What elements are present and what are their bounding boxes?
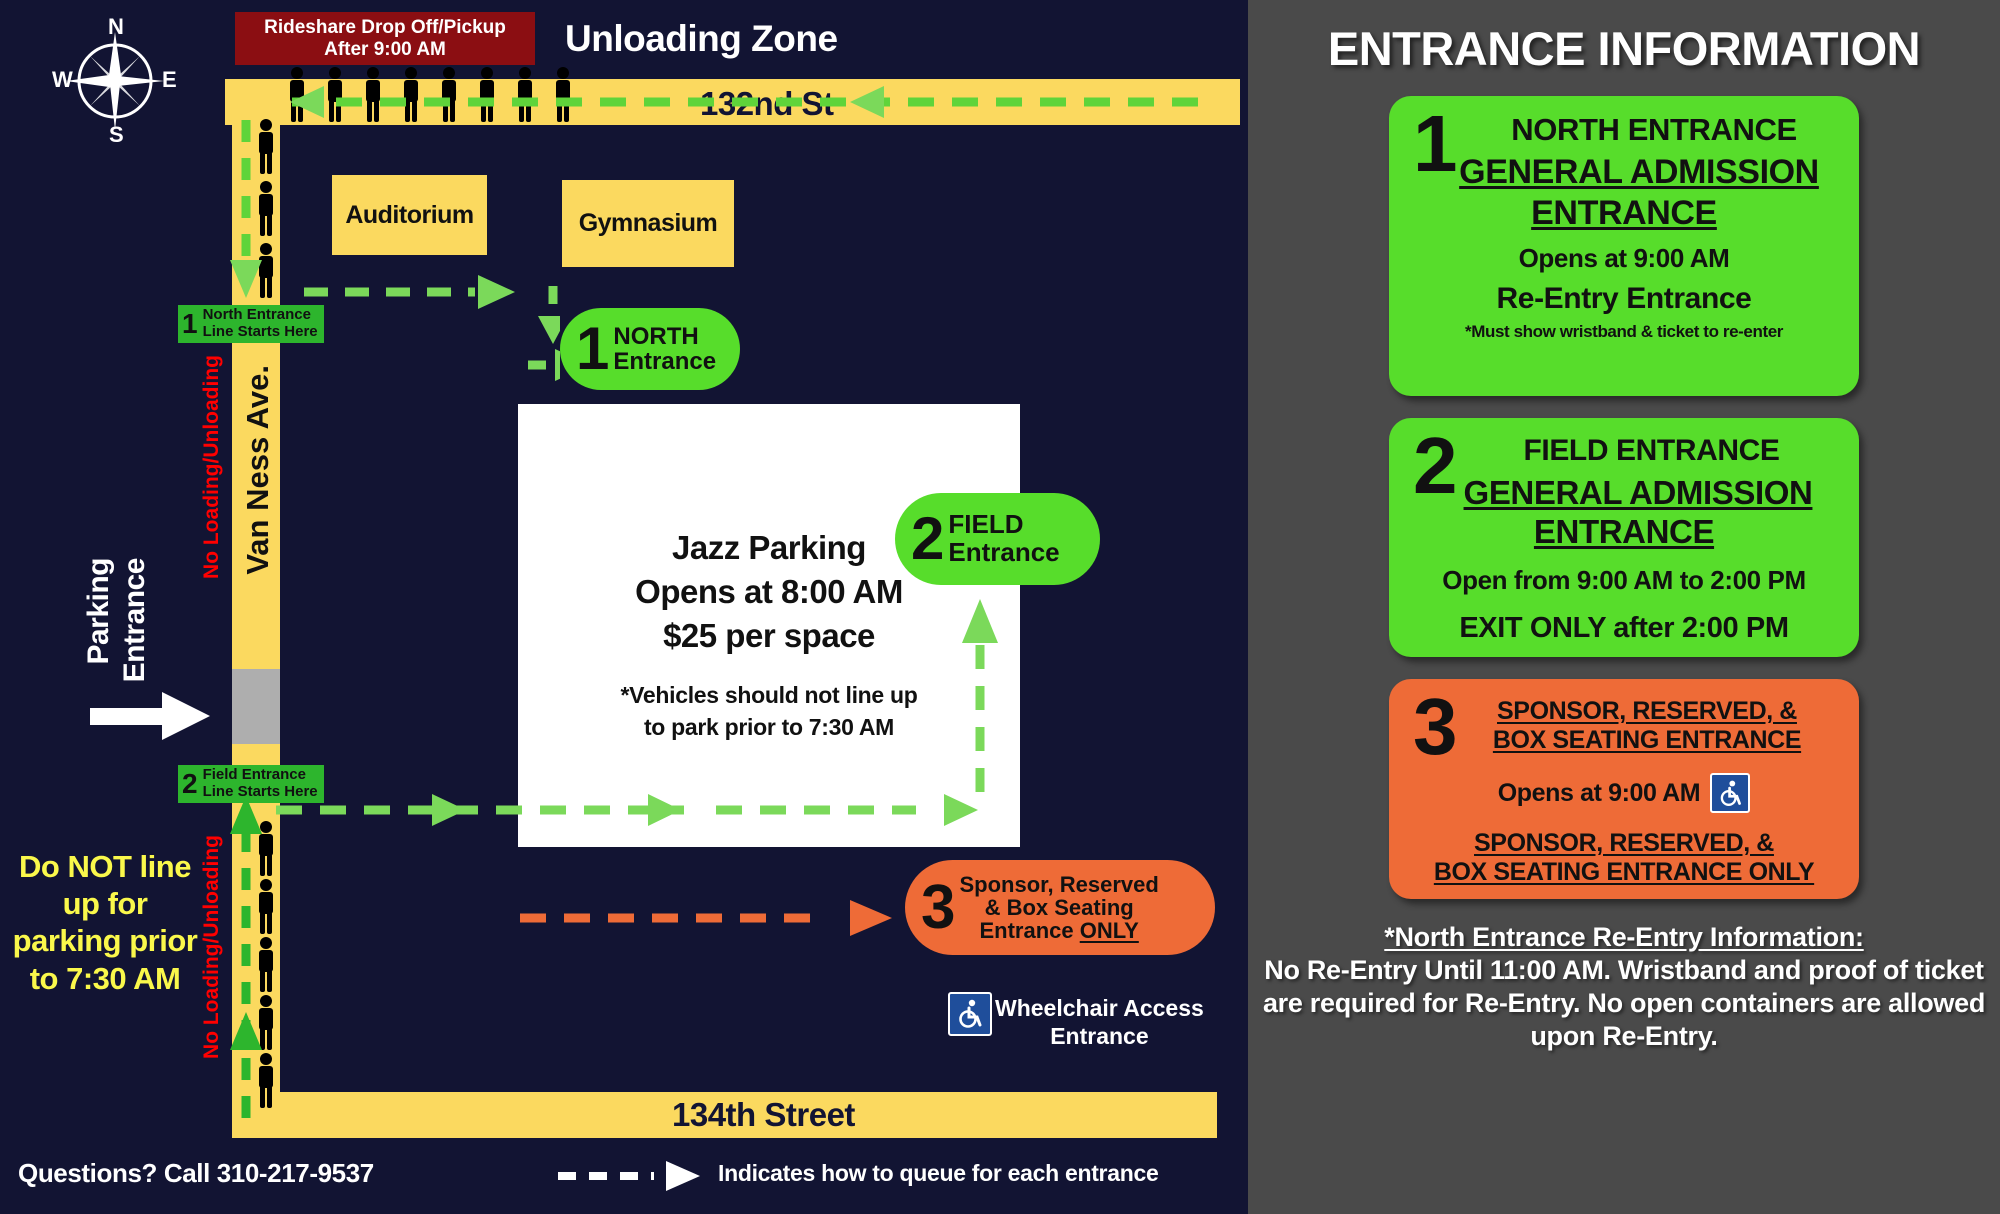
parking-entrance-line1: Parking [82, 558, 116, 665]
entrance-card-field-sub2: ENTRANCE [1405, 513, 1843, 551]
questions-phone: Questions? Call 310-217-9537 [18, 1158, 374, 1189]
sponsor-pill-l3: Entrance [979, 918, 1079, 943]
compass-west-label: W [52, 67, 73, 93]
street-van-ness-label: Van Ness Ave. [240, 365, 276, 575]
wheelchair-icon-card [1710, 773, 1750, 813]
entrance-card-north-hours: Opens at 9:00 AM [1405, 243, 1843, 274]
entrance-card-sponsor-hours: Opens at 9:00 AM [1498, 779, 1700, 808]
rideshare-line2: After 9:00 AM [324, 39, 446, 60]
sponsor-pill-l3-only: ONLY [1080, 918, 1139, 943]
entrance-card-sponsor-only1: SPONSOR, RESERVED, & [1405, 829, 1843, 858]
queue-arrow-field-horizontal [236, 790, 996, 830]
entrance-card-sponsor-hours-row: Opens at 9:00 AM [1405, 773, 1843, 813]
do-not-lineup-warning: Do NOT line up for parking prior to 7:30… [10, 848, 200, 997]
wheelchair-access-l1: Wheelchair Access [995, 995, 1204, 1023]
entrance-card-field-exit: EXIT ONLY after 2:00 PM [1405, 612, 1843, 645]
jazz-parking-lot: Jazz Parking Opens at 8:00 AM $25 per sp… [518, 404, 1020, 847]
sponsor-pill-l2: & Box Seating [985, 895, 1134, 920]
wheelchair-access-label: Wheelchair Access Entrance [995, 995, 1204, 1050]
sponsor-pill-l1: Sponsor, Reserved [959, 872, 1158, 897]
north-line-tag-l1: North Entrance [203, 306, 311, 323]
north-entrance-pill-bottom: Entrance [613, 348, 716, 375]
compass-east-label: E [162, 67, 177, 93]
unloading-zone-label: Unloading Zone [565, 18, 838, 60]
queue-arrow-to-north-entrance [300, 272, 560, 382]
entrance-card-field-sub1: GENERAL ADMISSION [1405, 474, 1843, 512]
no-loading-lower-label: No Loading/Unloading [200, 835, 224, 1059]
legend-label: Indicates how to queue for each entrance [718, 1160, 1158, 1187]
infographic-root: N S E W Rideshare Drop Off/Pickup After … [0, 0, 2000, 1214]
north-entrance-pill-number: 1 [576, 319, 609, 379]
street-134th-label: 134th Street [672, 1096, 855, 1134]
field-line-tag-l1: Field Entrance [203, 766, 306, 783]
entrance-card-field-title: FIELD ENTRANCE [1405, 434, 1843, 468]
jazz-parking-note1: *Vehicles should not line up [518, 680, 1020, 710]
entrance-card-sponsor-title2: BOX SEATING ENTRANCE [1405, 726, 1843, 755]
compass-south-label: S [109, 122, 124, 148]
entrance-information-panel: ENTRANCE INFORMATION 1 NORTH ENTRANCE GE… [1248, 0, 2000, 1214]
compass-north-label: N [108, 14, 124, 40]
building-auditorium: Auditorium [332, 175, 487, 255]
parking-map: N S E W Rideshare Drop Off/Pickup After … [0, 0, 1240, 1214]
legend-arrow-icon [558, 1160, 708, 1192]
reentry-footnote-title: *North Entrance Re-Entry Information: [1384, 922, 1863, 952]
north-entrance-pill[interactable]: 1 NORTH Entrance [560, 308, 740, 390]
entrance-card-field-number: 2 [1413, 426, 1458, 506]
field-line-tag-number: 2 [182, 770, 198, 798]
rideshare-banner: Rideshare Drop Off/Pickup After 9:00 AM [235, 12, 535, 65]
parking-driveway [232, 669, 280, 744]
jazz-parking-note2: to park prior to 7:30 AM [518, 712, 1020, 742]
building-gymnasium: Gymnasium [562, 180, 734, 267]
gymnasium-label: Gymnasium [579, 209, 718, 238]
sponsor-entrance-pill-number: 3 [921, 877, 955, 939]
field-entrance-pill-bottom: Entrance [948, 537, 1059, 567]
wheelchair-icon [948, 992, 992, 1036]
field-entrance-pill-top: FIELD [948, 509, 1023, 539]
entrance-card-field-hours: Open from 9:00 AM to 2:00 PM [1405, 565, 1843, 596]
entrance-card-north-title: NORTH ENTRANCE [1405, 112, 1843, 148]
auditorium-label: Auditorium [345, 201, 473, 230]
queue-arrow-132nd [252, 84, 1232, 120]
entrance-card-north: 1 NORTH ENTRANCE GENERAL ADMISSION ENTRA… [1389, 96, 1859, 396]
no-loading-upper-label: No Loading/Unloading [200, 355, 224, 579]
entrance-card-sponsor-number: 3 [1413, 687, 1458, 767]
wheelchair-access-l2: Entrance [995, 1023, 1204, 1051]
entrance-card-sponsor-title1: SPONSOR, RESERVED, & [1405, 697, 1843, 726]
reentry-footnote-body: No Re-Entry Until 11:00 AM. Wristband an… [1263, 955, 1985, 1051]
parking-entrance-label2: Entrance [118, 558, 152, 682]
compass-rose: N S E W [50, 14, 180, 144]
jazz-parking-line3: $25 per space [518, 614, 1020, 658]
north-entrance-pill-top: NORTH [613, 323, 698, 350]
parking-entrance-label: Parking [82, 558, 116, 665]
rideshare-line1: Rideshare Drop Off/Pickup [264, 17, 506, 38]
parking-entrance-arrow-icon [90, 688, 220, 744]
sponsor-entrance-pill[interactable]: 3 Sponsor, Reserved & Box Seating Entran… [905, 860, 1215, 955]
entrance-card-north-note: *Must show wristband & ticket to re-ente… [1405, 322, 1843, 342]
entrance-card-field: 2 FIELD ENTRANCE GENERAL ADMISSION ENTRA… [1389, 418, 1859, 657]
north-line-tag-number: 1 [182, 310, 198, 338]
entrance-card-north-reentry: Re-Entry Entrance [1405, 282, 1843, 316]
entrance-card-sponsor: 3 SPONSOR, RESERVED, & BOX SEATING ENTRA… [1389, 679, 1859, 899]
entrance-card-north-sub1: GENERAL ADMISSION [1405, 153, 1843, 192]
parking-entrance-line2: Entrance [118, 558, 152, 682]
queue-arrow-sponsor [520, 900, 920, 936]
reentry-footnote: *North Entrance Re-Entry Information: No… [1262, 921, 1986, 1053]
entrance-card-north-sub2: ENTRANCE [1405, 194, 1843, 233]
queue-arrow-field-vertical [960, 585, 1000, 810]
queue-arrow-van-ness-south [228, 120, 264, 300]
panel-title: ENTRANCE INFORMATION [1248, 21, 2000, 76]
entrance-card-sponsor-only2: BOX SEATING ENTRANCE ONLY [1405, 858, 1843, 887]
field-entrance-pill-number: 2 [911, 509, 944, 569]
queue-arrow-van-ness-north [228, 790, 264, 1120]
entrance-card-north-number: 1 [1413, 104, 1458, 184]
field-entrance-pill[interactable]: 2 FIELD Entrance [895, 493, 1100, 585]
